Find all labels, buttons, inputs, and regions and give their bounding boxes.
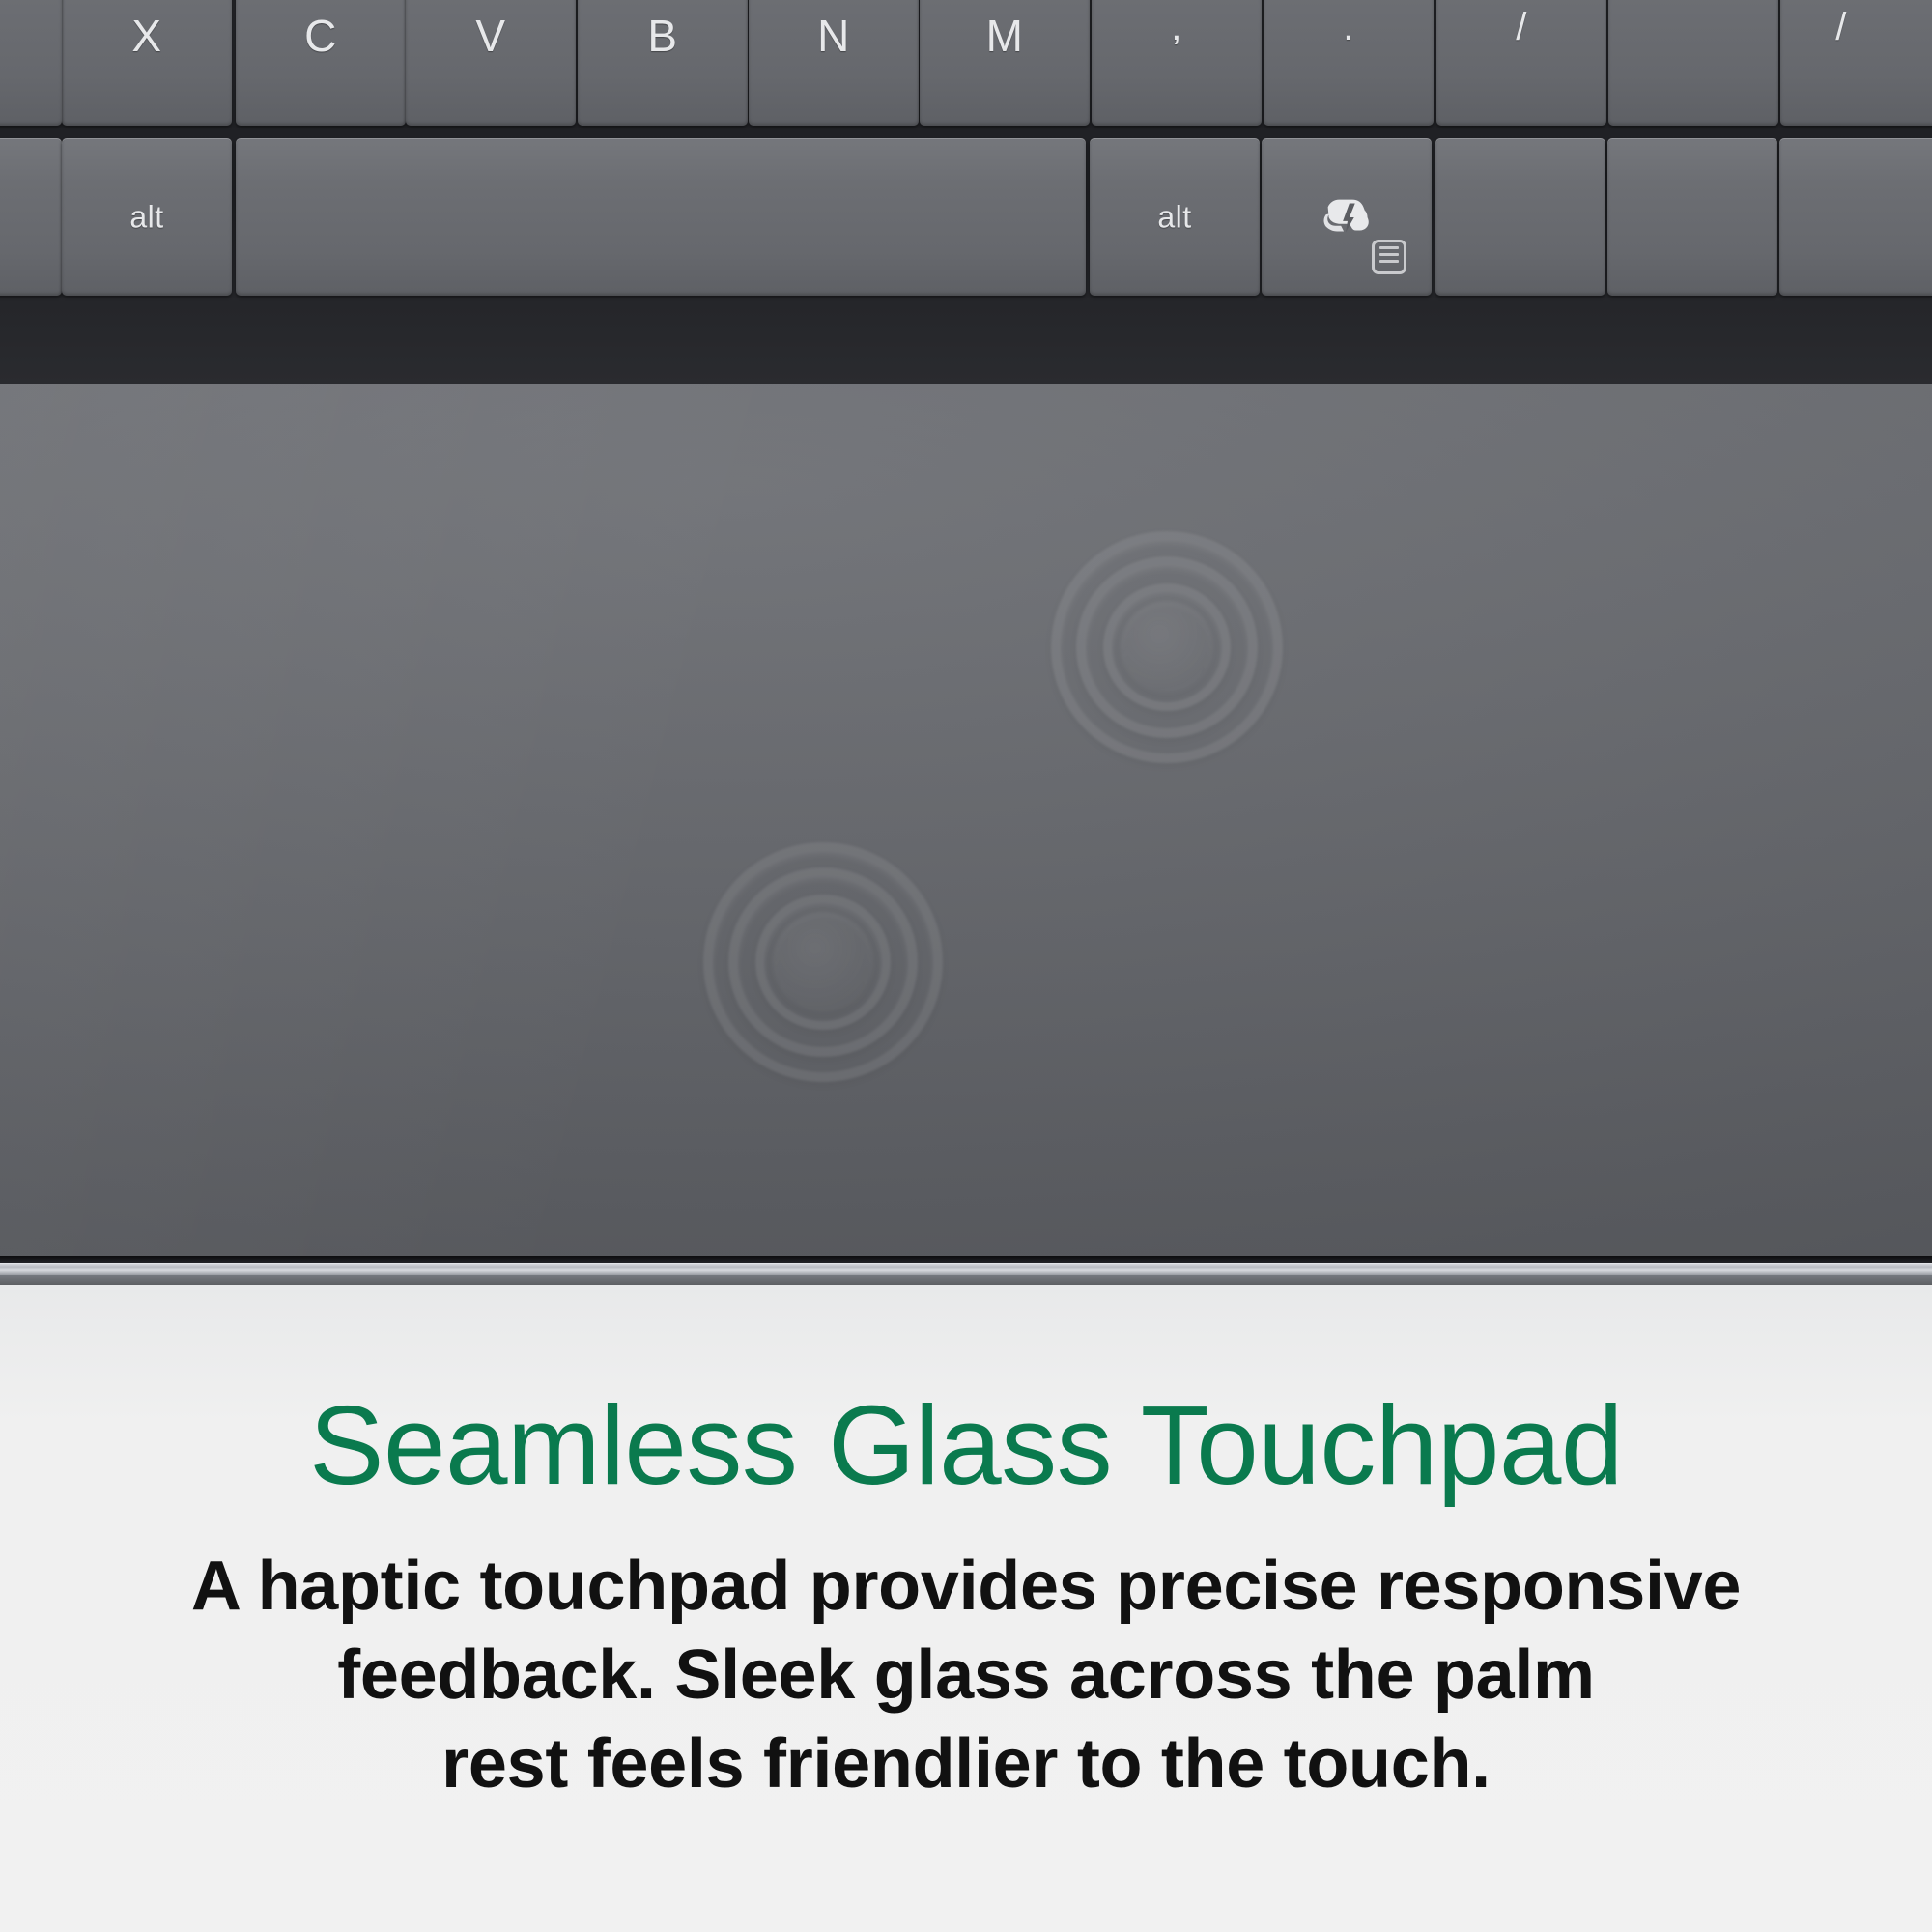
- feature-description-line-3: rest feels friendlier to the touch.: [0, 1719, 1932, 1808]
- laptop-photo: X C V B N M < , > .: [0, 0, 1932, 1285]
- copilot-icon: [1317, 186, 1377, 246]
- key-v-label: V: [406, 10, 576, 62]
- key-x-label: X: [62, 10, 232, 62]
- key-right-partial[interactable]: [1608, 0, 1778, 126]
- key-v[interactable]: V: [406, 0, 576, 126]
- chassis-drop-shadow: [0, 1275, 1932, 1285]
- key-slash-upper-label-edge: ?: [1780, 0, 1932, 4]
- key-x[interactable]: X: [62, 0, 232, 126]
- key-b[interactable]: B: [578, 0, 748, 126]
- feature-title: Seamless Glass Touchpad: [0, 1285, 1932, 1501]
- product-feature-card: X C V B N M < , > .: [0, 0, 1932, 1932]
- key-spacebar[interactable]: [236, 138, 1086, 296]
- keyboard-deck: X C V B N M < , > .: [0, 0, 1932, 384]
- touch-ripple-lower: [703, 842, 943, 1082]
- key-n[interactable]: N: [749, 0, 919, 126]
- key-bottom-right-partial-3[interactable]: [1779, 138, 1932, 296]
- key-period-lower-label: .: [1264, 6, 1434, 49]
- key-alt-left-label: alt: [62, 199, 232, 235]
- key-m[interactable]: M: [920, 0, 1090, 126]
- chassis-dark-line: [0, 1256, 1932, 1263]
- caption-block: Seamless Glass Touchpad A haptic touchpa…: [0, 1285, 1932, 1932]
- key-bottom-right-partial-2[interactable]: [1607, 138, 1777, 296]
- key-b-label: B: [578, 10, 748, 62]
- chassis-chrome-strip: [0, 1263, 1932, 1275]
- touch-ripple-upper: [1051, 531, 1283, 763]
- feature-description-line-2: feedback. Sleek glass across the palm: [0, 1631, 1932, 1719]
- key-c[interactable]: C: [236, 0, 406, 126]
- key-right-partial-2[interactable]: ? /: [1780, 0, 1932, 126]
- key-alt-left[interactable]: alt: [62, 138, 232, 296]
- glass-touchpad-surface[interactable]: [0, 384, 1932, 1256]
- key-c-label: C: [236, 10, 406, 62]
- chassis-chrome-edge: [0, 1256, 1932, 1285]
- key-bottom-right-partial[interactable]: [1435, 138, 1605, 296]
- key-comma-lower-label: ,: [1092, 6, 1262, 49]
- feature-description: A haptic touchpad provides precise respo…: [0, 1501, 1932, 1808]
- key-period[interactable]: > .: [1264, 0, 1434, 126]
- key-period-upper-label: >: [1264, 0, 1434, 4]
- key-alt-right[interactable]: alt: [1090, 138, 1260, 296]
- menu-icon: [1372, 240, 1406, 274]
- feature-description-line-1: A haptic touchpad provides precise respo…: [0, 1542, 1932, 1631]
- key-n-label: N: [749, 10, 919, 62]
- key-slash-lower-label-edge: /: [1780, 6, 1932, 49]
- key-slash-lower-label: /: [1436, 6, 1606, 49]
- key-alt-right-label: alt: [1090, 199, 1260, 235]
- key-copilot[interactable]: [1262, 138, 1432, 296]
- key-bottom-left-partial[interactable]: [0, 138, 62, 296]
- key-comma[interactable]: < ,: [1092, 0, 1262, 126]
- key-slash-upper-label: ?: [1436, 0, 1606, 4]
- key-m-label: M: [920, 10, 1090, 62]
- key-left-partial[interactable]: [0, 0, 62, 126]
- key-slash[interactable]: ? /: [1436, 0, 1606, 126]
- key-comma-upper-label: <: [1092, 0, 1262, 4]
